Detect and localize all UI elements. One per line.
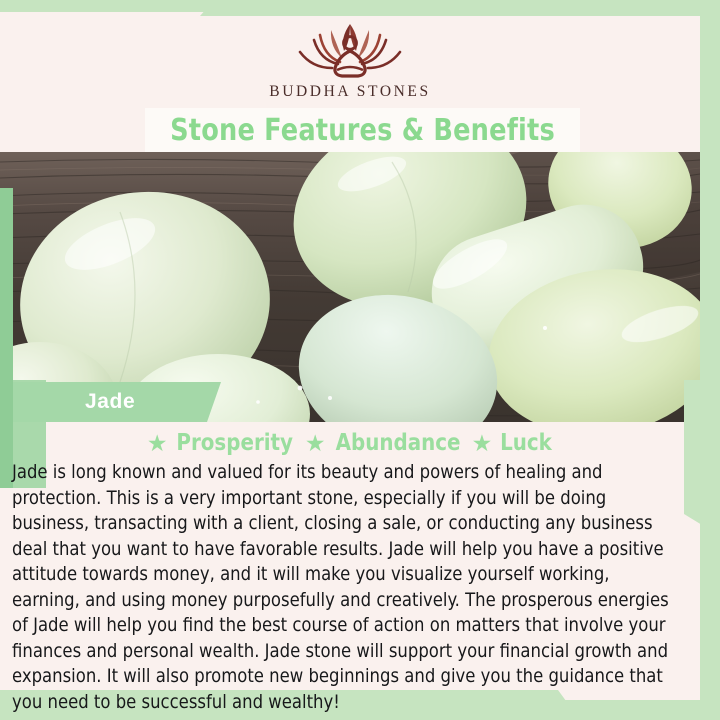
brand-header: BUDDHA STONES xyxy=(0,12,700,112)
star-icon: ★ xyxy=(472,432,493,455)
decor-right-block xyxy=(684,380,720,536)
stone-name-label: Jade xyxy=(13,390,135,414)
keyword-label: Luck xyxy=(500,430,552,456)
lotus-meditation-icon xyxy=(290,18,410,82)
keyword-item-abundance: ★ Abundance xyxy=(305,430,463,456)
keyword-item-prosperity: ★ Prosperity xyxy=(147,430,296,456)
stone-description: Jade is long known and valued for its be… xyxy=(12,460,678,715)
keyword-list: ★ Prosperity ★ Abundance ★ Luck xyxy=(0,430,700,456)
keyword-label: Prosperity xyxy=(177,430,294,456)
keyword-item-luck: ★ Luck xyxy=(472,430,554,456)
title-banner: Stone Features & Benefits xyxy=(145,108,580,152)
poster-root: BUDDHA STONES Stone Features & Benefits … xyxy=(0,0,720,720)
page-title: Stone Features & Benefits xyxy=(170,113,555,148)
jade-tumbled-stones-on-wood-photo xyxy=(0,152,700,422)
brand-name: BUDDHA STONES xyxy=(269,83,430,101)
star-icon: ★ xyxy=(305,432,326,455)
stone-name-tag: Jade xyxy=(13,382,221,422)
star-icon: ★ xyxy=(147,432,168,455)
keyword-label: Abundance xyxy=(335,430,460,456)
decor-right-edge xyxy=(700,0,720,420)
